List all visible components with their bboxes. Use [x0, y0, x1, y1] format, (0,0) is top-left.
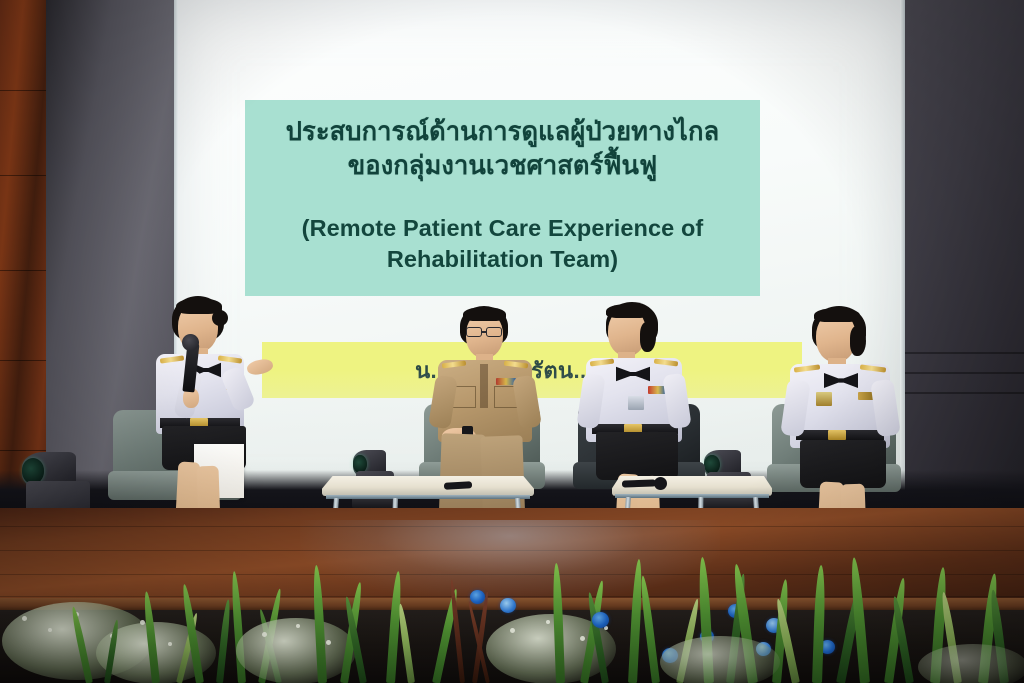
foliage-clump [660, 636, 780, 683]
shirt-placket [480, 364, 488, 408]
stage-photo-scene: ประสบการณ์ด้านการดูแลผู้ป่วยทางไกล ของกล… [0, 0, 1024, 683]
slide-thai-title-line-1: ประสบการณ์ด้านการดูแลผู้ป่วยทางไกล [286, 116, 720, 150]
microphone-capsule [182, 334, 199, 351]
table-microphone-body[interactable] [622, 479, 656, 487]
hair-ponytail [640, 322, 656, 352]
table-microphone-head [654, 477, 667, 490]
name-plate [628, 396, 644, 410]
insignia-badge [816, 392, 832, 406]
eyeglasses-right-lens [486, 327, 502, 337]
slide-english-title-line-1: (Remote Patient Care Experience of [302, 214, 704, 244]
hair-fringe [463, 307, 506, 321]
remote-control[interactable] [444, 481, 472, 489]
blue-flower [470, 590, 485, 604]
hair-fringe [814, 308, 860, 322]
blue-flower [500, 598, 516, 613]
hair-fringe [176, 298, 222, 314]
slide-thai-title-line-2: ของกลุ่มงานเวชศาสตร์ฟื้นฟู [348, 150, 657, 184]
slide-english-title-line-2: Rehabilitation Team) [387, 245, 618, 275]
hair-ponytail [850, 326, 866, 356]
belt-buckle [828, 430, 846, 440]
table-left-top [322, 476, 534, 496]
skirt [800, 440, 886, 488]
table-left-edge [326, 495, 530, 499]
eyeglasses-left-lens [466, 327, 482, 337]
gypsophila-cluster [236, 618, 356, 683]
table-right-edge [615, 494, 769, 498]
foreground-planter [0, 556, 1024, 683]
skirt [596, 432, 678, 480]
foliage-clump [918, 644, 1024, 683]
blue-flower [592, 612, 609, 628]
slide-title-block: ประสบการณ์ด้านการดูแลผู้ป่วยทางไกล ของกล… [245, 100, 760, 296]
hair-fringe [606, 304, 650, 318]
eyeglasses-bridge [482, 331, 487, 333]
